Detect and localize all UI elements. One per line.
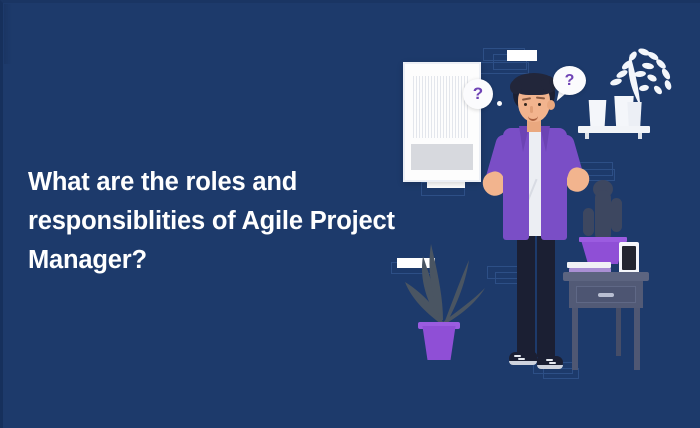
shoe-right-sole <box>537 365 563 369</box>
banner-edge-highlight <box>4 4 12 64</box>
eye-left <box>524 103 527 106</box>
document-text-lines <box>413 76 469 138</box>
document-image-block <box>411 144 473 170</box>
table-leg-back <box>616 308 621 356</box>
question-bubble-left-tail-dot <box>497 101 502 106</box>
illustration: ? ? <box>395 30 700 400</box>
question-bubble-left: ? <box>463 79 493 109</box>
table-leg-right <box>634 308 640 370</box>
shelf-plant-leaves <box>600 44 680 104</box>
shelf-plant <box>600 44 680 104</box>
leg-right <box>537 228 555 358</box>
leg-left <box>517 228 535 358</box>
person-shrugging <box>483 68 603 368</box>
picture-frame <box>619 242 639 274</box>
picture-frame-photo <box>622 246 636 270</box>
ear <box>547 100 555 110</box>
open-shirt-left-panel <box>503 128 529 240</box>
nose <box>530 106 533 113</box>
floor-plant <box>397 226 493 330</box>
eye-right <box>538 103 541 106</box>
decorative-rect-fill-1 <box>507 50 537 61</box>
document-board <box>403 62 481 182</box>
floor-plant-leaves <box>397 226 493 330</box>
question-bubble-right: ? <box>553 66 586 95</box>
floor-plant-pot <box>421 326 457 360</box>
hair-curl-left <box>510 80 522 94</box>
banner: What are the roles and responsiblities o… <box>0 0 700 428</box>
shelf-pot-small <box>626 102 643 126</box>
shoe-left-sole <box>509 361 537 365</box>
cactus-arm-right <box>611 198 622 232</box>
shelf-bracket-right <box>638 133 642 139</box>
page-title: What are the roles and responsiblities o… <box>28 163 403 280</box>
